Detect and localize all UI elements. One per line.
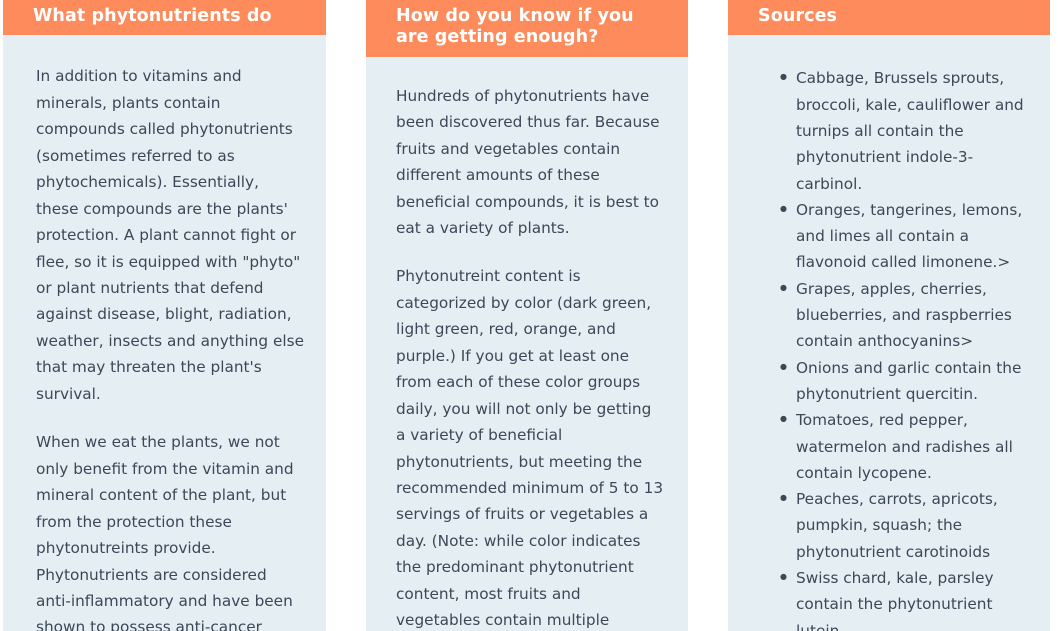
column-1-paragraph-1: In addition to vitamins and minerals, pl…: [36, 63, 304, 407]
list-item: Peaches, carrots, apricots, pumpkin, squ…: [780, 486, 1038, 565]
list-item: Tomatoes, red pepper, watermelon and rad…: [780, 407, 1038, 486]
column-2-paragraph-1: Hundreds of phytonutrients have been dis…: [396, 83, 664, 242]
column-1-paragraph-2-text-before-link: When we eat the plants, we not only bene…: [36, 433, 294, 631]
list-item: Cabbage, Brussels sprouts, broccoli, kal…: [780, 65, 1038, 196]
column-2-paragraph-2: Phytonutreint content is categorized by …: [396, 263, 664, 631]
list-item: Onions and garlic contain the phytonutri…: [780, 355, 1038, 408]
column-what-phytonutrients-do: What phytonutrients do In addition to vi…: [3, 0, 326, 631]
list-item: Grapes, apples, cherries, blueberries, a…: [780, 276, 1038, 355]
column-1-body: In addition to vitamins and minerals, pl…: [3, 35, 326, 631]
cancer-link[interactable]: cancer: [210, 618, 262, 631]
sources-list: Cabbage, Brussels sprouts, broccoli, kal…: [758, 65, 1038, 631]
list-item: Swiss chard, kale, parsley contain the p…: [780, 565, 1038, 631]
three-column-infographic: What phytonutrients do In addition to vi…: [0, 0, 1058, 631]
column-3-body: Cabbage, Brussels sprouts, broccoli, kal…: [728, 35, 1050, 631]
column-2-header: How do you know if you are getting enoug…: [366, 0, 688, 57]
list-item: Oranges, tangerines, lemons, and limes a…: [780, 197, 1038, 276]
column-gap-1: [326, 0, 366, 631]
column-how-do-you-know: How do you know if you are getting enoug…: [366, 0, 688, 631]
column-1-header: What phytonutrients do: [3, 0, 326, 35]
column-2-body: Hundreds of phytonutrients have been dis…: [366, 57, 688, 631]
column-3-header: Sources: [728, 0, 1050, 35]
column-gap-2: [688, 0, 728, 631]
column-sources: Sources Cabbage, Brussels sprouts, brocc…: [728, 0, 1050, 631]
column-1-paragraph-2: When we eat the plants, we not only bene…: [36, 429, 304, 631]
